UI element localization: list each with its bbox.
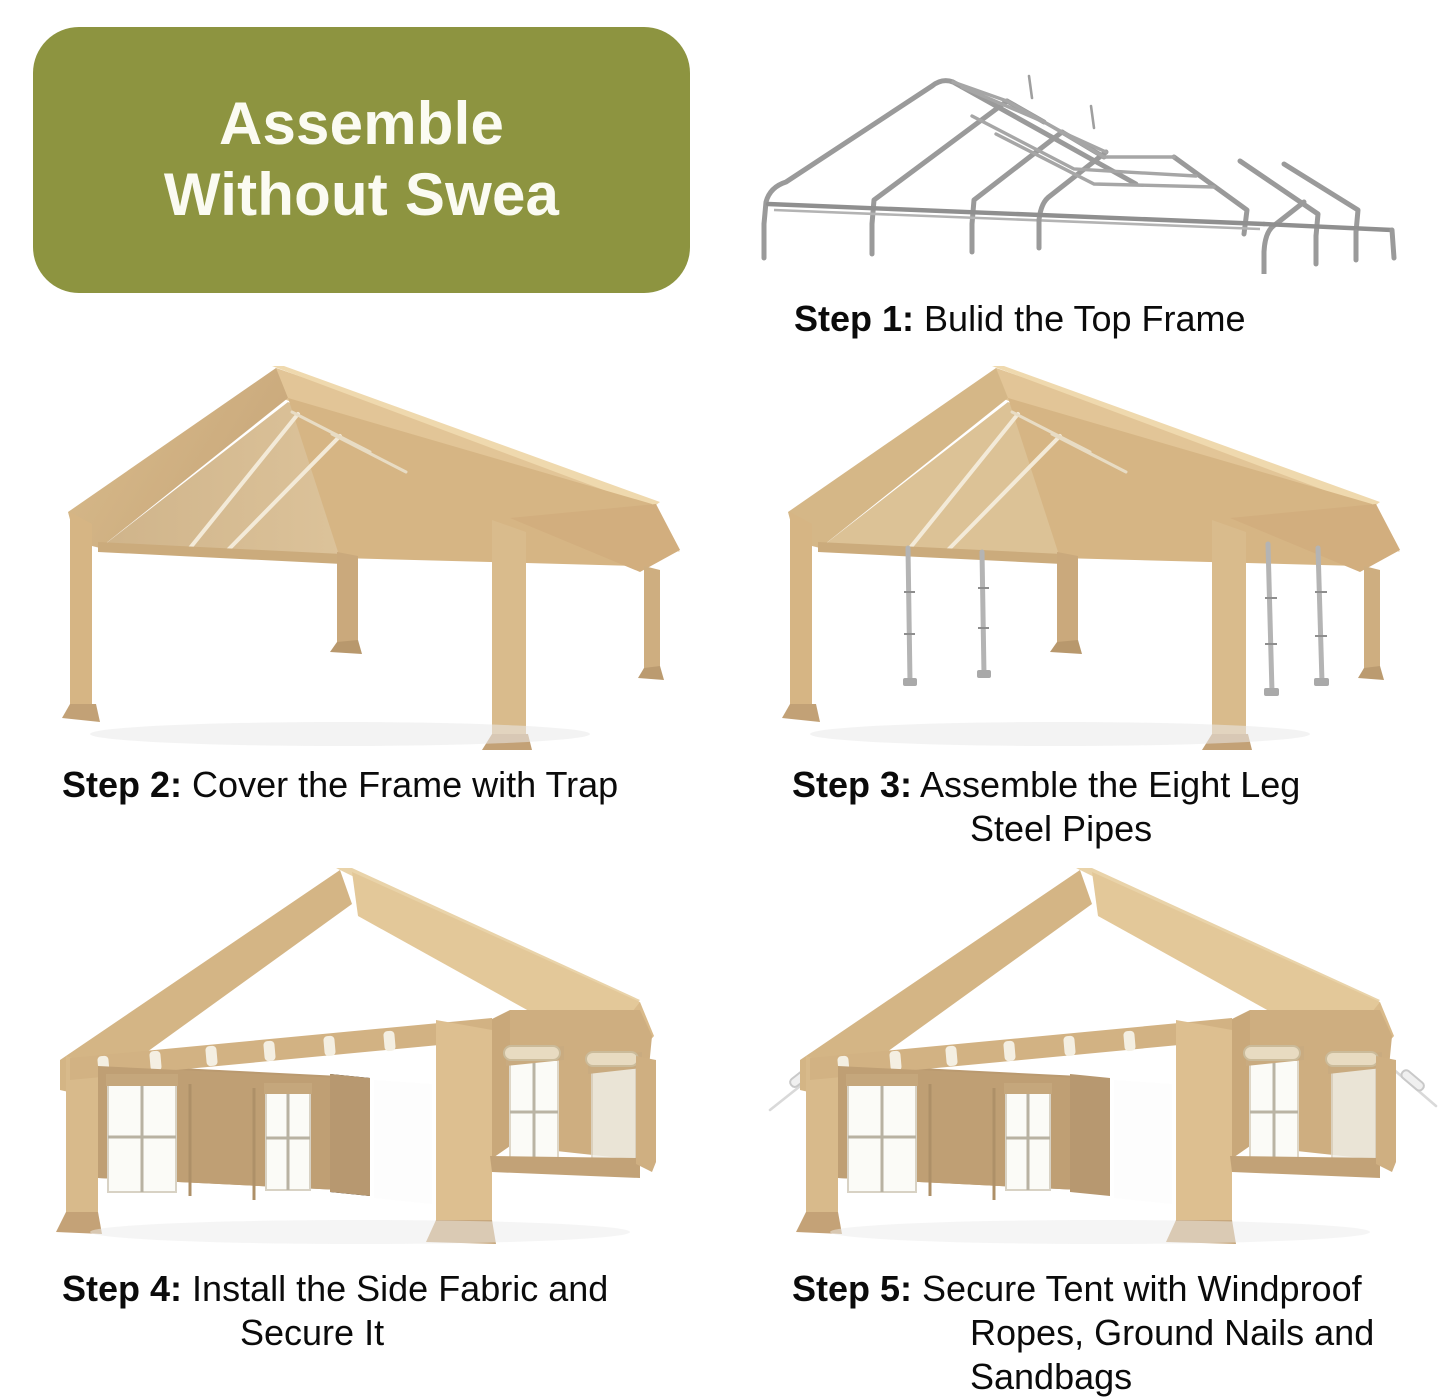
step-3-text-line1: Assemble the Eight Leg (920, 764, 1300, 805)
step-1-cell: Step 1: Bulid the Top Frame (744, 24, 1404, 342)
carport-guy-ropes-drawing (760, 860, 1440, 1252)
enclosed-carport-drawing (40, 860, 700, 1252)
step-2-lead: Step 2: (62, 764, 182, 805)
step-2-cell: Step 2: Cover the Frame with Trap (40, 352, 700, 808)
step-3-text-line2: Steel Pipes (792, 806, 1420, 852)
step-2-illustration (40, 352, 700, 750)
step-5-text-line1: Secure Tent with Windproof (922, 1268, 1362, 1309)
steel-frame-drawing (744, 24, 1404, 274)
step-5-text-line3: Sandbags (792, 1354, 1440, 1400)
step-2-caption: Step 2: Cover the Frame with Trap (40, 762, 700, 808)
step-4-cell: Step 4: Install the Side Fabric and Secu… (40, 860, 700, 1356)
step-1-caption: Step 1: Bulid the Top Frame (744, 296, 1404, 342)
step-3-cell: Step 3: Assemble the Eight Leg Steel Pip… (760, 352, 1420, 852)
step-5-text-line2: Ropes, Ground Nails and (792, 1310, 1440, 1356)
step-5-illustration (760, 860, 1440, 1252)
step-5-cell: Step 5: Secure Tent with Windproof Ropes… (760, 860, 1440, 1400)
step-3-caption: Step 3: Assemble the Eight Leg Steel Pip… (760, 762, 1420, 852)
step-4-lead: Step 4: (62, 1268, 182, 1309)
window-pane-group (106, 1074, 178, 1192)
step-4-text-line1: Install the Side Fabric and (192, 1268, 608, 1309)
step-1-lead: Step 1: (794, 298, 914, 339)
headline-text: Assemble Without Swea (140, 89, 583, 231)
assembly-infographic: Assemble Without Swea (0, 0, 1445, 1385)
step-5-lead: Step 5: (792, 1268, 912, 1309)
step-3-illustration (760, 352, 1420, 750)
step-4-illustration (40, 860, 700, 1252)
step-1-illustration (744, 24, 1404, 274)
step-4-caption: Step 4: Install the Side Fabric and Secu… (40, 1266, 700, 1356)
headline-banner: Assemble Without Swea (33, 27, 690, 293)
step-1-text: Bulid the Top Frame (924, 298, 1246, 339)
canopy-tarp-drawing (40, 352, 700, 750)
canopy-eight-legs-drawing (760, 352, 1420, 750)
step-2-text: Cover the Frame with Trap (192, 764, 618, 805)
step-4-text-line2: Secure It (62, 1310, 700, 1356)
step-5-caption: Step 5: Secure Tent with Windproof Ropes… (760, 1266, 1440, 1400)
step-3-lead: Step 3: (792, 764, 912, 805)
